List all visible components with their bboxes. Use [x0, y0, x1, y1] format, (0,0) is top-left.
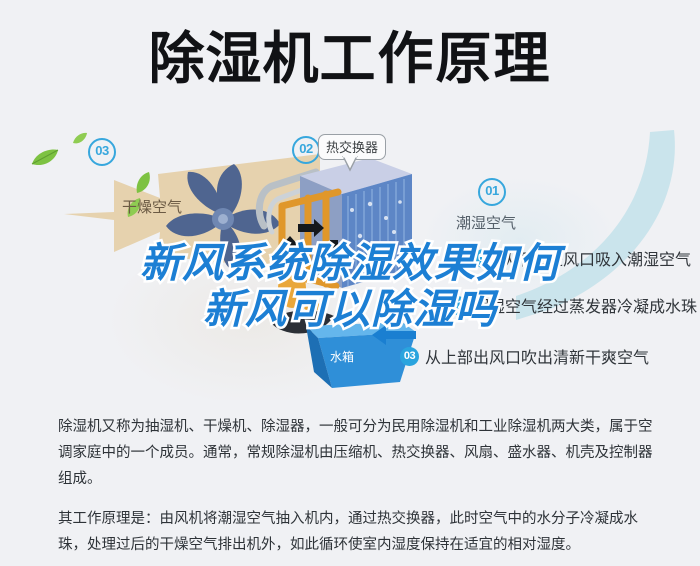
step-number-01: 01: [474, 249, 493, 268]
step-number-03: 03: [400, 347, 419, 366]
page-title: 除湿机工作原理: [0, 26, 700, 92]
step-caption-02: 02 潮湿空气经过蒸发器冷凝成水珠: [448, 293, 697, 317]
step-caption-01: 01 从下部进风口吸入潮湿空气: [474, 246, 691, 270]
body-paragraph-2: 其工作原理是：由风机将潮湿空气抽入机内，通过热交换器，此时空气中的水分子冷凝成水…: [58, 506, 658, 558]
step-text-03: 从上部出风口吹出清新干爽空气: [425, 344, 649, 368]
step-number-02: 02: [448, 296, 467, 315]
title-band: 除湿机工作原理: [0, 0, 700, 122]
page-title-light: 除湿机: [149, 27, 320, 90]
step-caption-list: 01 从下部进风口吸入潮湿空气 02 潮湿空气经过蒸发器冷凝成水珠 03 从上部…: [0, 120, 700, 400]
page-title-bold: 工作原理: [320, 27, 552, 90]
step-text-02: 潮湿空气经过蒸发器冷凝成水珠: [473, 293, 697, 317]
dehumidifier-infographic-page: 除湿机工作原理: [0, 0, 700, 566]
step-text-01: 从下部进风口吸入潮湿空气: [499, 246, 691, 270]
body-copy: 除湿机又称为抽湿机、干燥机、除湿器，一般可分为民用除湿机和工业除湿机两大类，属于…: [58, 414, 658, 558]
step-caption-03: 03 从上部出风口吹出清新干爽空气: [400, 344, 649, 368]
working-principle-illustration: 03 02 01 热交换器 干燥空气 潮湿空气 水箱 01 从下部进风口吸入潮湿…: [0, 120, 700, 400]
body-paragraph-1: 除湿机又称为抽湿机、干燥机、除湿器，一般可分为民用除湿机和工业除湿机两大类，属于…: [58, 414, 658, 492]
